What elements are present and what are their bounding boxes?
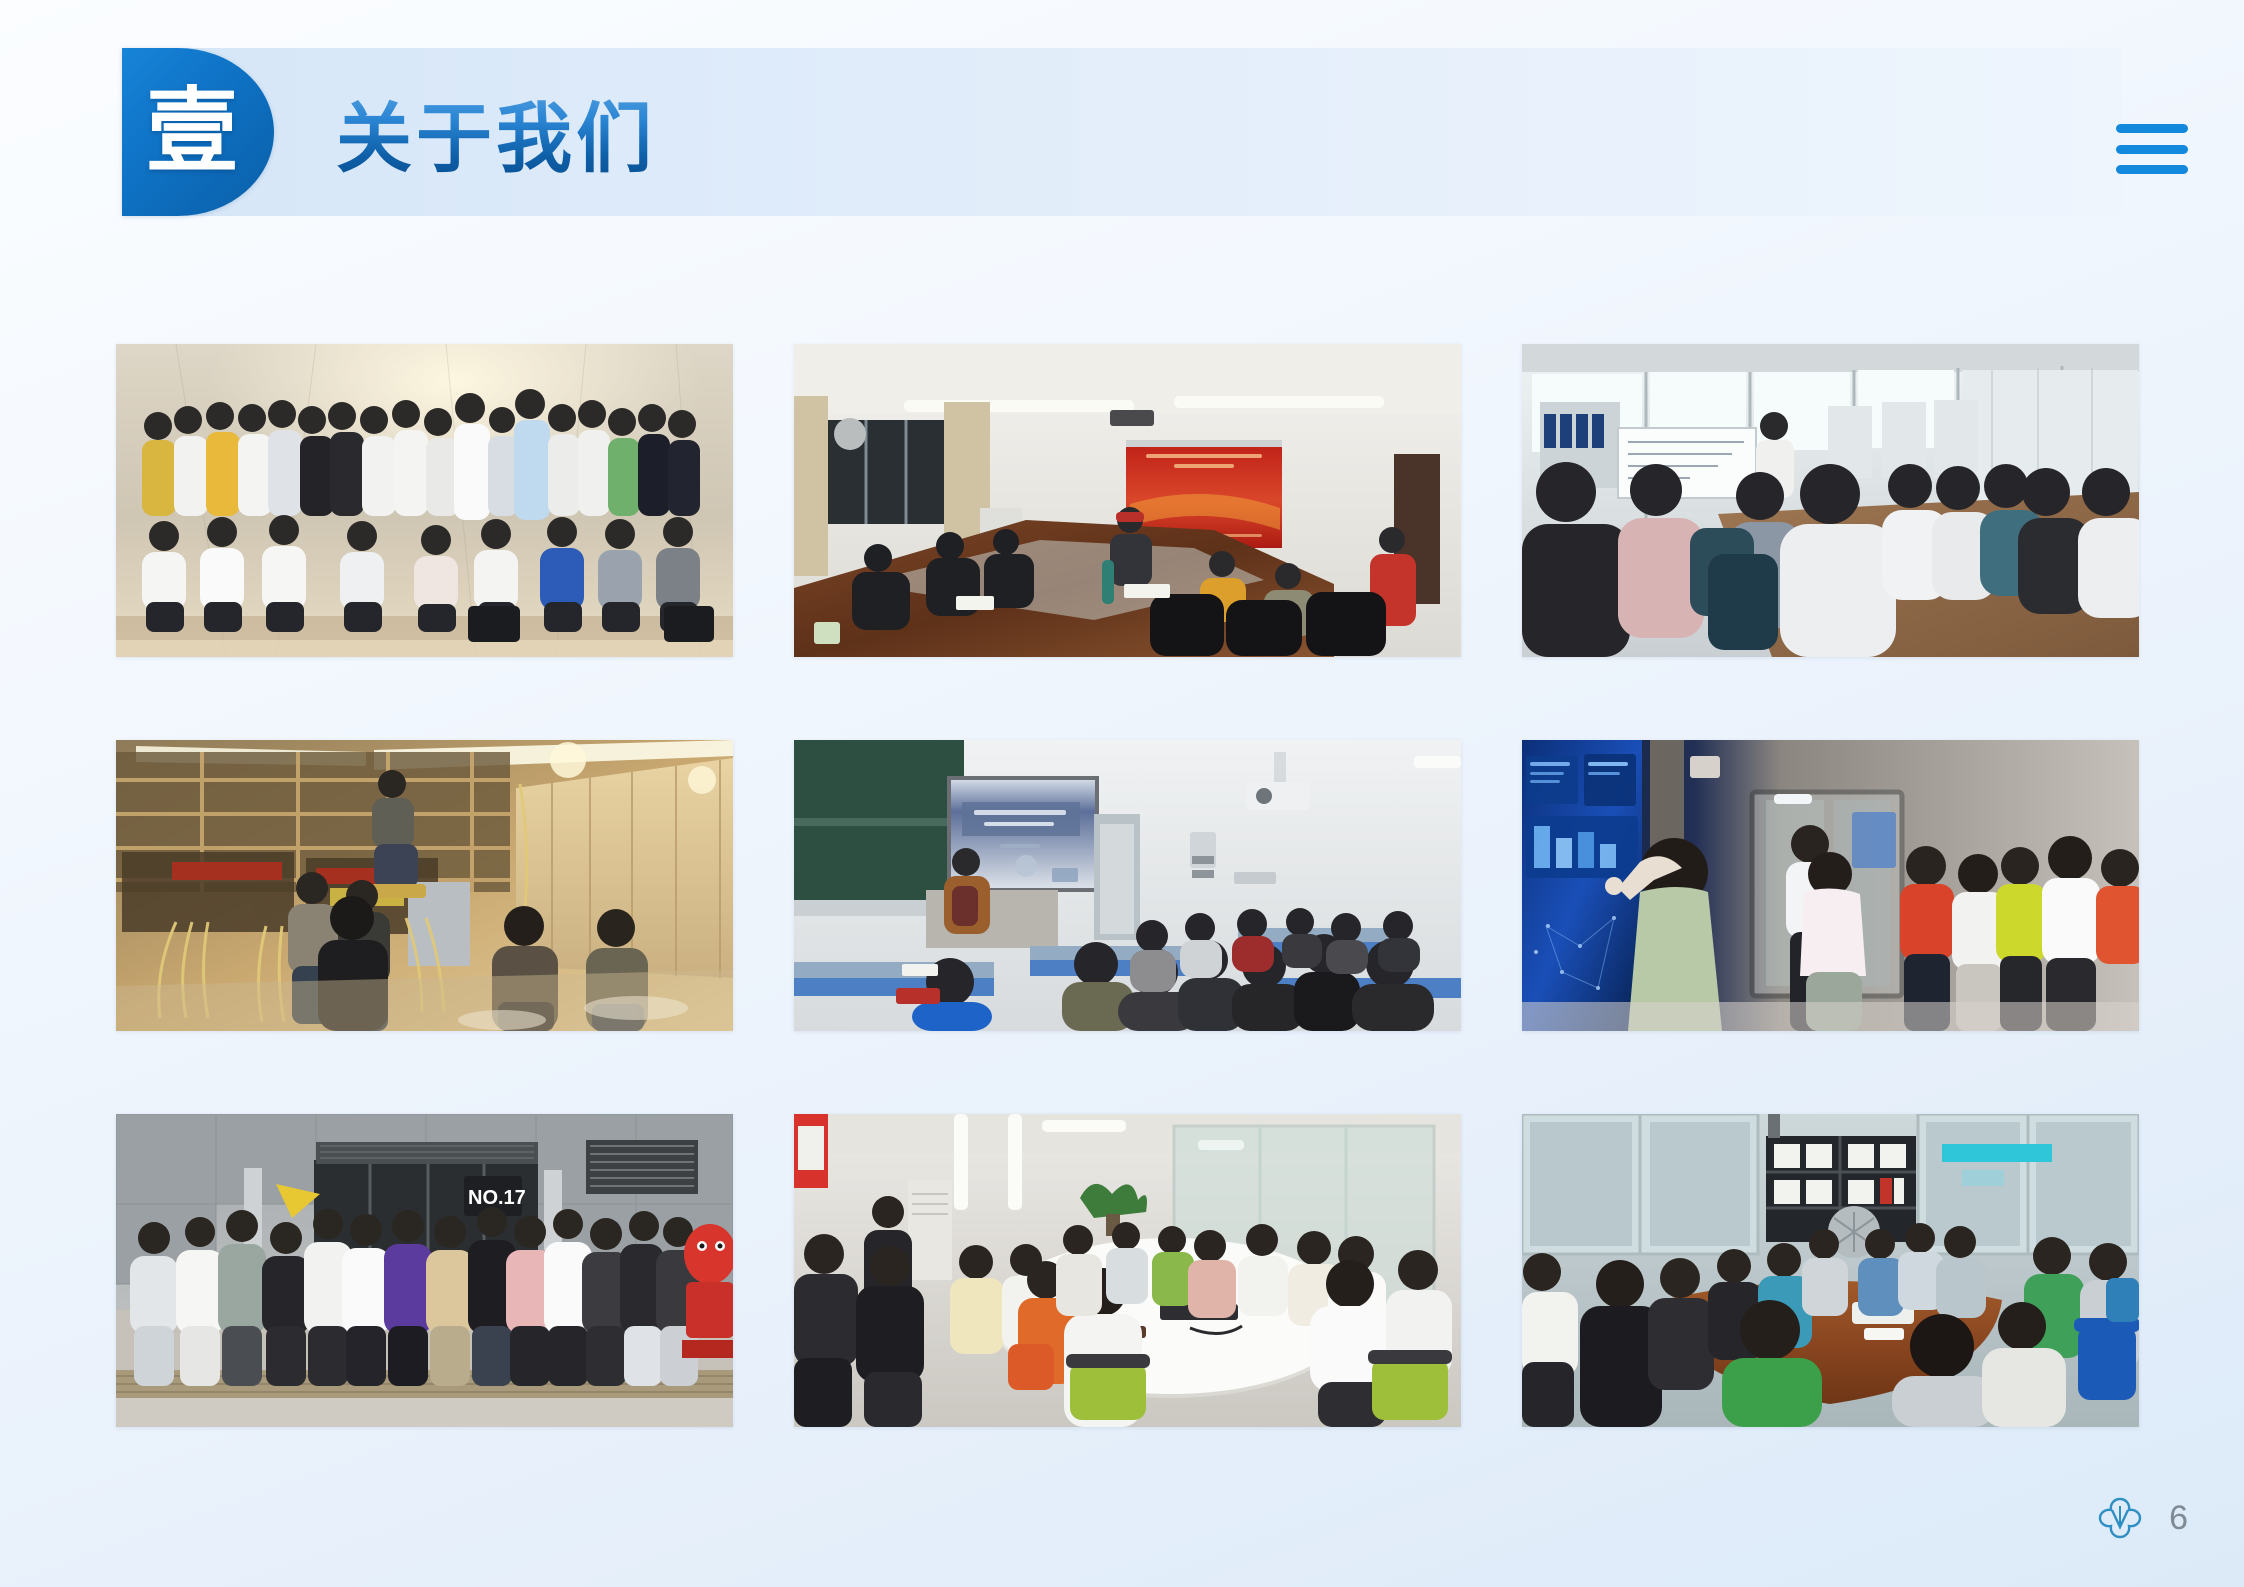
roundtable-discussion-icon <box>794 1114 1461 1427</box>
photo-gallery-grid: NO.17 <box>116 344 2140 1427</box>
slide-footer: 6 <box>2097 1495 2188 1541</box>
gallery-photo-6[interactable] <box>1522 740 2139 1031</box>
menu-bar-bottom <box>2116 165 2188 174</box>
group-photo-icon <box>116 344 733 657</box>
quatrefoil-v-logo-icon <box>2097 1495 2143 1541</box>
gallery-photo-7[interactable]: NO.17 <box>116 1114 733 1427</box>
menu-bar-top <box>2116 124 2188 133</box>
gallery-photo-9[interactable] <box>1522 1114 2139 1427</box>
training-session-icon <box>1522 344 2139 657</box>
exhibition-tour-icon <box>1522 740 2139 1031</box>
gallery-photo-4[interactable] <box>116 740 733 1031</box>
gallery-photo-3[interactable] <box>1522 344 2139 657</box>
svg-text:NO.17: NO.17 <box>468 1187 526 1209</box>
gallery-photo-8[interactable] <box>794 1114 1461 1427</box>
hamburger-menu-icon[interactable] <box>2116 118 2188 180</box>
industrial-site-icon <box>116 740 733 1031</box>
page-number: 6 <box>2169 1501 2188 1535</box>
gallery-photo-5[interactable] <box>794 740 1461 1031</box>
gallery-photo-2[interactable] <box>794 344 1461 657</box>
seminar-discussion-icon <box>1522 1114 2139 1427</box>
menu-bar-middle <box>2116 145 2188 154</box>
meeting-room-icon <box>794 344 1461 657</box>
section-number-char: 壹 <box>146 86 238 178</box>
lecture-hall-icon <box>794 740 1461 1031</box>
outdoor-group-photo-icon: NO.17 <box>116 1114 733 1427</box>
gallery-photo-1[interactable] <box>116 344 733 657</box>
page-title: 关于我们 <box>336 77 656 187</box>
slide-header: 壹 关于我们 <box>122 48 2122 216</box>
